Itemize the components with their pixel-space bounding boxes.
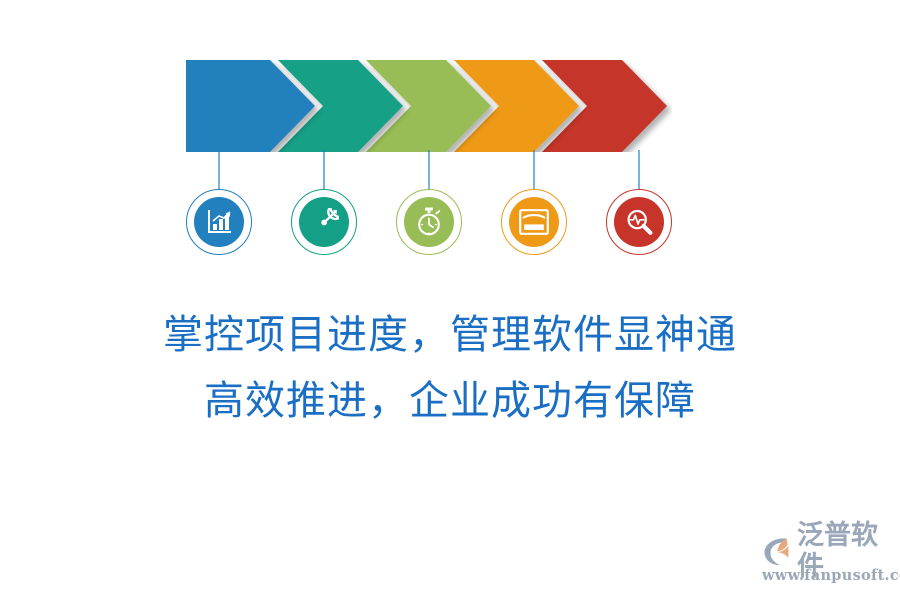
bar-chart-growth-icon <box>205 208 233 236</box>
brand-logo[interactable]: 泛普软件 www.fanpusoft.com <box>762 534 894 586</box>
process-icon-badge-5[interactable] <box>606 189 672 255</box>
stopwatch-icon <box>415 207 443 237</box>
process-icon-badge-3[interactable] <box>396 189 462 255</box>
badge-disc-3 <box>404 197 454 247</box>
headline-line-2: 高效推进，企业成功有保障 <box>0 368 900 434</box>
target-bullseye-icon <box>310 208 339 237</box>
badge-disc-1 <box>194 197 244 247</box>
software-card-icon <box>519 209 549 235</box>
process-icon-badge-1[interactable] <box>186 189 252 255</box>
process-icon-badge-4[interactable] <box>501 189 567 255</box>
brand-url: www.fanpusoft.com <box>762 567 894 584</box>
fanpu-swoosh-logo-icon <box>762 536 795 567</box>
magnifier-pulse-icon <box>625 208 653 236</box>
badge-disc-4 <box>509 197 559 247</box>
headline-line-1: 掌控项目进度，管理软件显神通 <box>0 302 900 368</box>
process-icon-badge-2[interactable] <box>291 189 357 255</box>
badge-disc-2 <box>299 197 349 247</box>
headline-text: 掌控项目进度，管理软件显神通 高效推进，企业成功有保障 <box>0 302 900 434</box>
process-chevron-bar <box>186 60 672 152</box>
brand-logo-row: 泛普软件 <box>762 534 894 568</box>
badge-disc-5 <box>614 197 664 247</box>
process-icon-row <box>186 189 672 259</box>
promo-banner: 掌控项目进度，管理软件显神通 高效推进，企业成功有保障 泛普软件 www.fan… <box>0 0 900 600</box>
